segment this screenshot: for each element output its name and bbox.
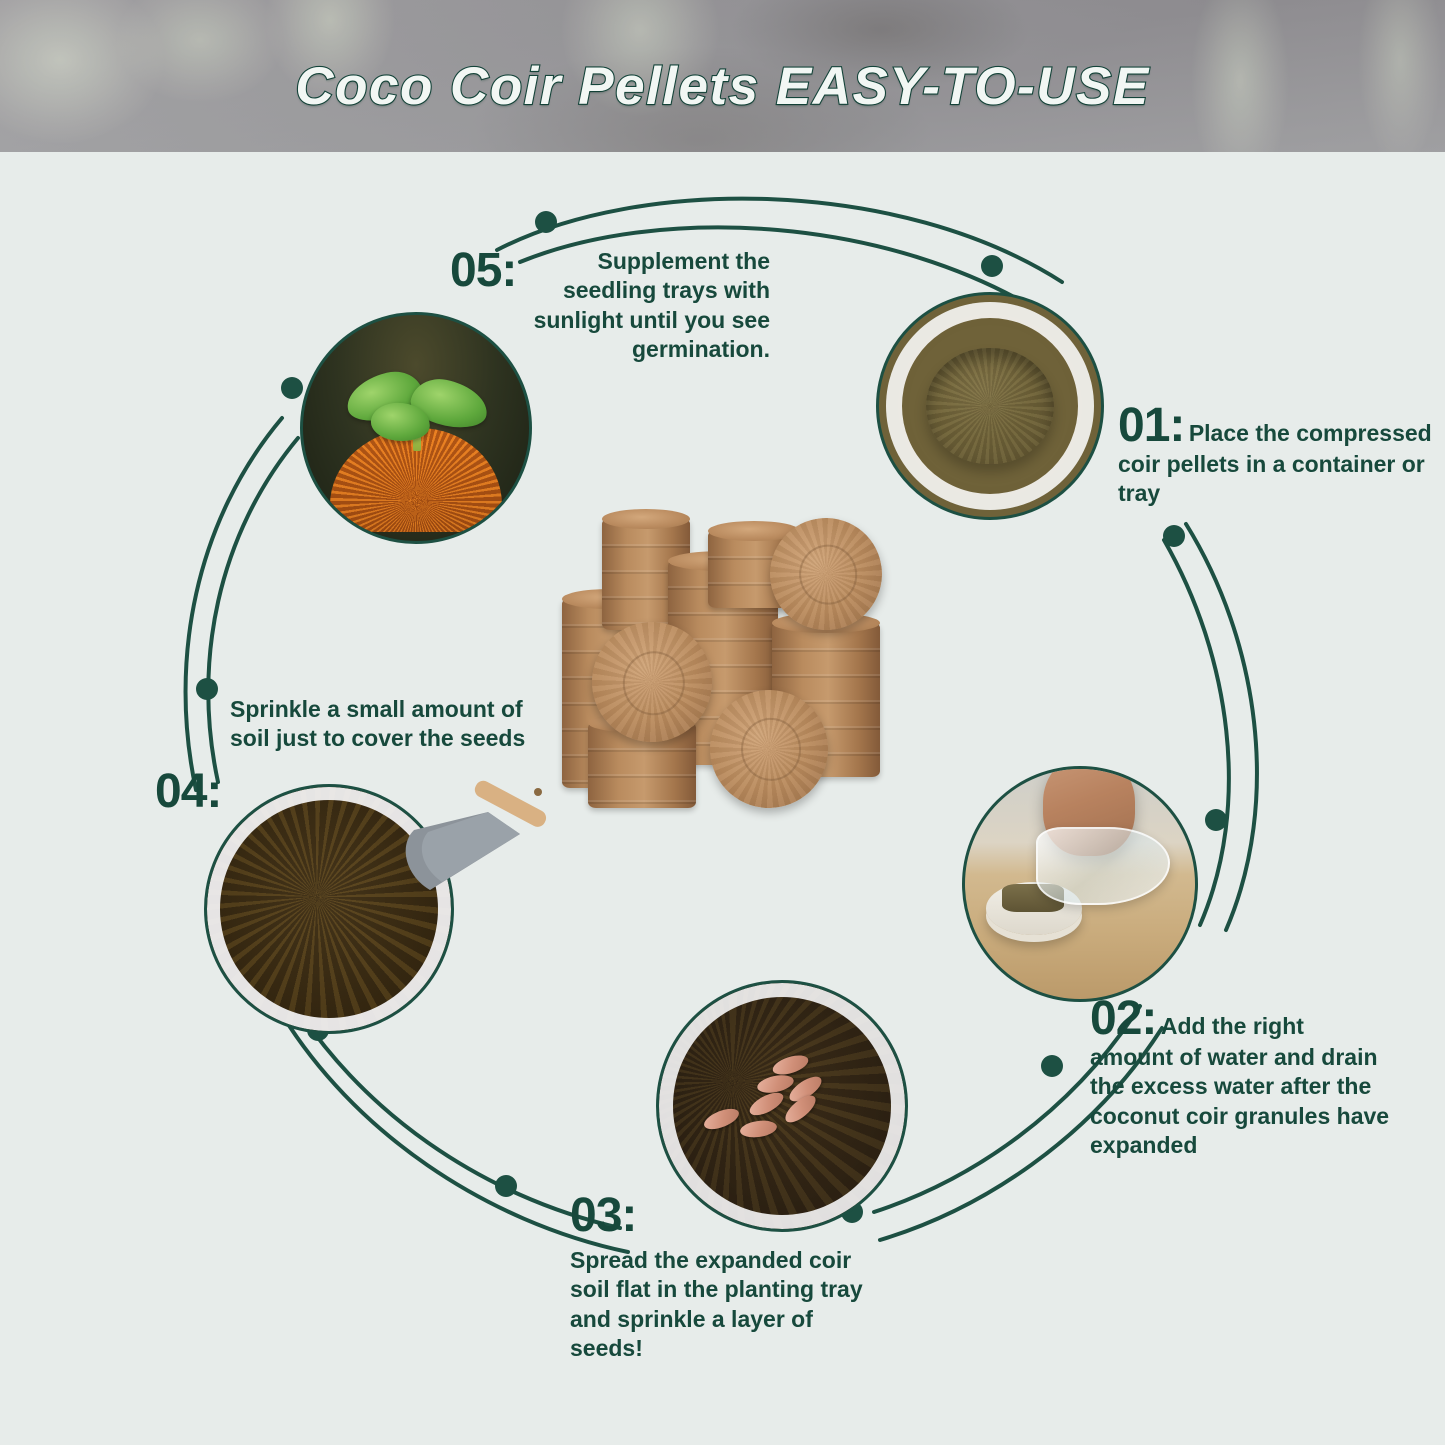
seed [756, 1073, 795, 1096]
seed [786, 1072, 826, 1106]
arc-dot-right-lower [1205, 809, 1227, 831]
arc-dot-bottom-right [1041, 1055, 1063, 1077]
seed [746, 1088, 786, 1119]
arc-dot-bottom-left [495, 1175, 517, 1197]
step-05-text: 05: Supplement the seedling trays with s… [450, 247, 770, 365]
arc-dot-top-right [981, 255, 1003, 277]
seed [771, 1051, 811, 1078]
step-04-number: 04: [155, 765, 221, 818]
step-02-photo [962, 766, 1198, 1002]
step-02-text: 02: Add the right amount of water and dr… [1090, 995, 1390, 1161]
step-05-number: 05: [450, 247, 516, 295]
arc-dot-left-top [281, 377, 303, 399]
center-product-image [540, 500, 900, 840]
step-04-text: Sprinkle a small amount of soil just to … [230, 695, 540, 754]
step-02-number: 02: [1090, 992, 1156, 1045]
arc-dot-left-upper [196, 678, 218, 700]
step-03-number: 03: [570, 1192, 870, 1240]
seed [781, 1091, 820, 1127]
step-04-body: Sprinkle a small amount of soil just to … [230, 695, 540, 754]
arc-dot-right-upper [1163, 525, 1185, 547]
step-01-text: 01: Place the compressed coir pellets in… [1118, 402, 1436, 509]
infographic-page: Coco Coir Pellets EASY-TO-USE [0, 0, 1445, 1445]
step-03-text: 03: Spread the expanded coir soil flat i… [570, 1192, 870, 1364]
step-01-photo [876, 292, 1104, 520]
seed [739, 1118, 778, 1139]
glass-bowl [1036, 827, 1169, 905]
step-01-number: 01: [1118, 399, 1184, 452]
arc-dot-top-left [535, 211, 557, 233]
seed [702, 1105, 742, 1134]
step-04-number-wrap: 04: [155, 768, 221, 816]
step-03-body: Spread the expanded coir soil flat in th… [570, 1246, 870, 1364]
